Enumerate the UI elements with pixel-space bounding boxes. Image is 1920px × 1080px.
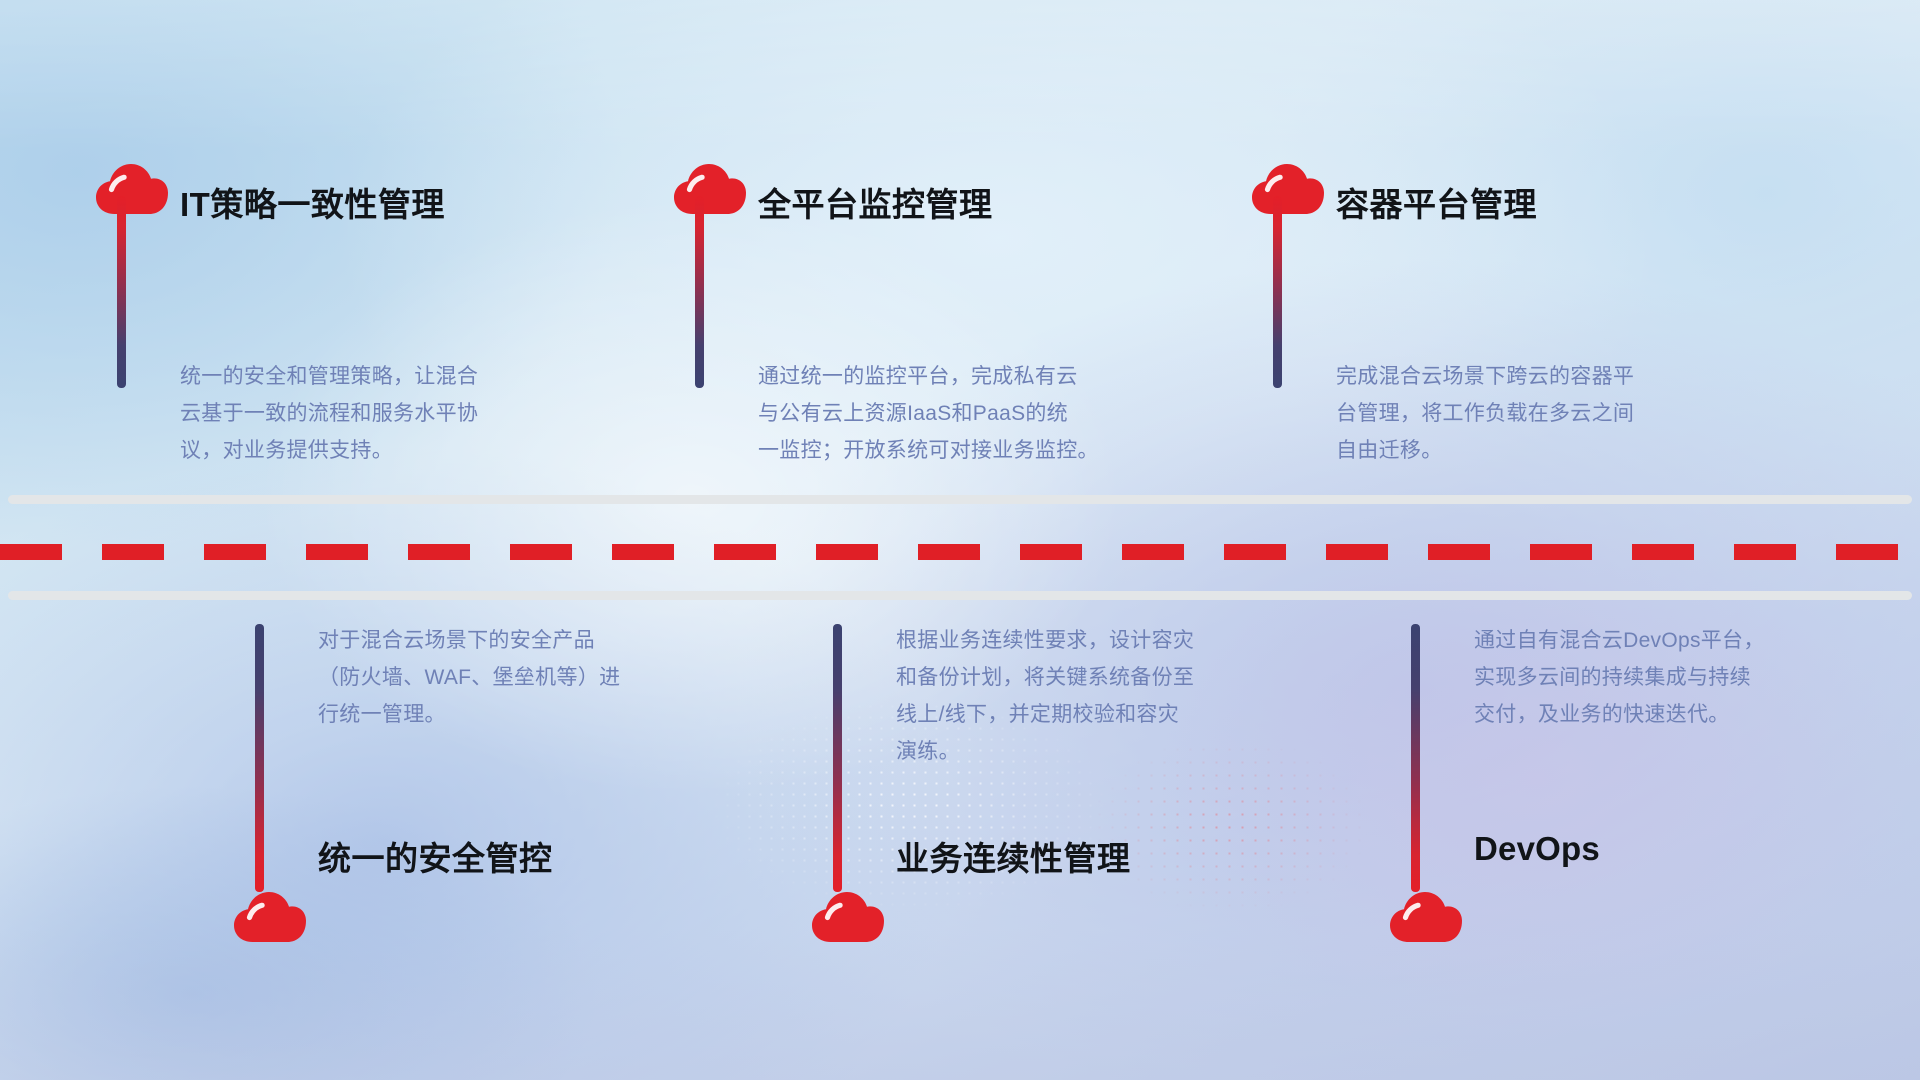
divider-dashed-red: [0, 544, 1920, 560]
panel-body: 通过统一的监控平台，完成私有云 与公有云上资源IaaS和PaaS的统 一监控；开…: [758, 358, 1208, 469]
panel-title: 统一的安全管控: [318, 832, 553, 880]
panel-title: 容器平台管理: [1336, 178, 1537, 226]
divider-group: [0, 490, 1920, 600]
panel-body: 完成混合云场景下跨云的容器平 台管理，将工作负载在多云之间 自由迁移。: [1336, 358, 1776, 469]
stem-connector: [255, 624, 264, 892]
stem-connector: [1273, 196, 1282, 388]
panel-body: 根据业务连续性要求，设计容灾 和备份计划，将关键系统备份至 线上/线下，并定期校…: [896, 622, 1326, 770]
panel-body: 统一的安全和管理策略，让混合 云基于一致的流程和服务水平协 议，对业务提供支持。: [180, 358, 620, 469]
panel-body: 对于混合云场景下的安全产品 （防火墙、WAF、堡垒机等）进 行统一管理。: [318, 622, 748, 733]
stem-connector: [1411, 624, 1420, 892]
cloud-icon: [672, 160, 748, 216]
panel-title: 业务连续性管理: [896, 832, 1131, 880]
cloud-icon: [232, 888, 308, 944]
cloud-icon: [1250, 160, 1326, 216]
panel-title: 全平台监控管理: [758, 178, 993, 226]
cloud-icon: [1388, 888, 1464, 944]
divider-solid-bottom: [8, 591, 1912, 600]
stem-connector: [117, 196, 126, 388]
panel-title: IT策略一致性管理: [180, 178, 445, 226]
panel-title: DevOps: [1474, 830, 1600, 868]
cloud-icon: [810, 888, 886, 944]
stem-connector: [833, 624, 842, 892]
bottom-row: 对于混合云场景下的安全产品 （防火墙、WAF、堡垒机等）进 行统一管理。 统一的…: [0, 600, 1920, 1080]
top-row: IT策略一致性管理 统一的安全和管理策略，让混合 云基于一致的流程和服务水平协 …: [0, 0, 1920, 500]
panel-body: 通过自有混合云DevOps平台， 实现多云间的持续集成与持续 交付，及业务的快速…: [1474, 622, 1904, 733]
cloud-icon: [94, 160, 170, 216]
stem-connector: [695, 196, 704, 388]
divider-solid-top: [8, 495, 1912, 504]
